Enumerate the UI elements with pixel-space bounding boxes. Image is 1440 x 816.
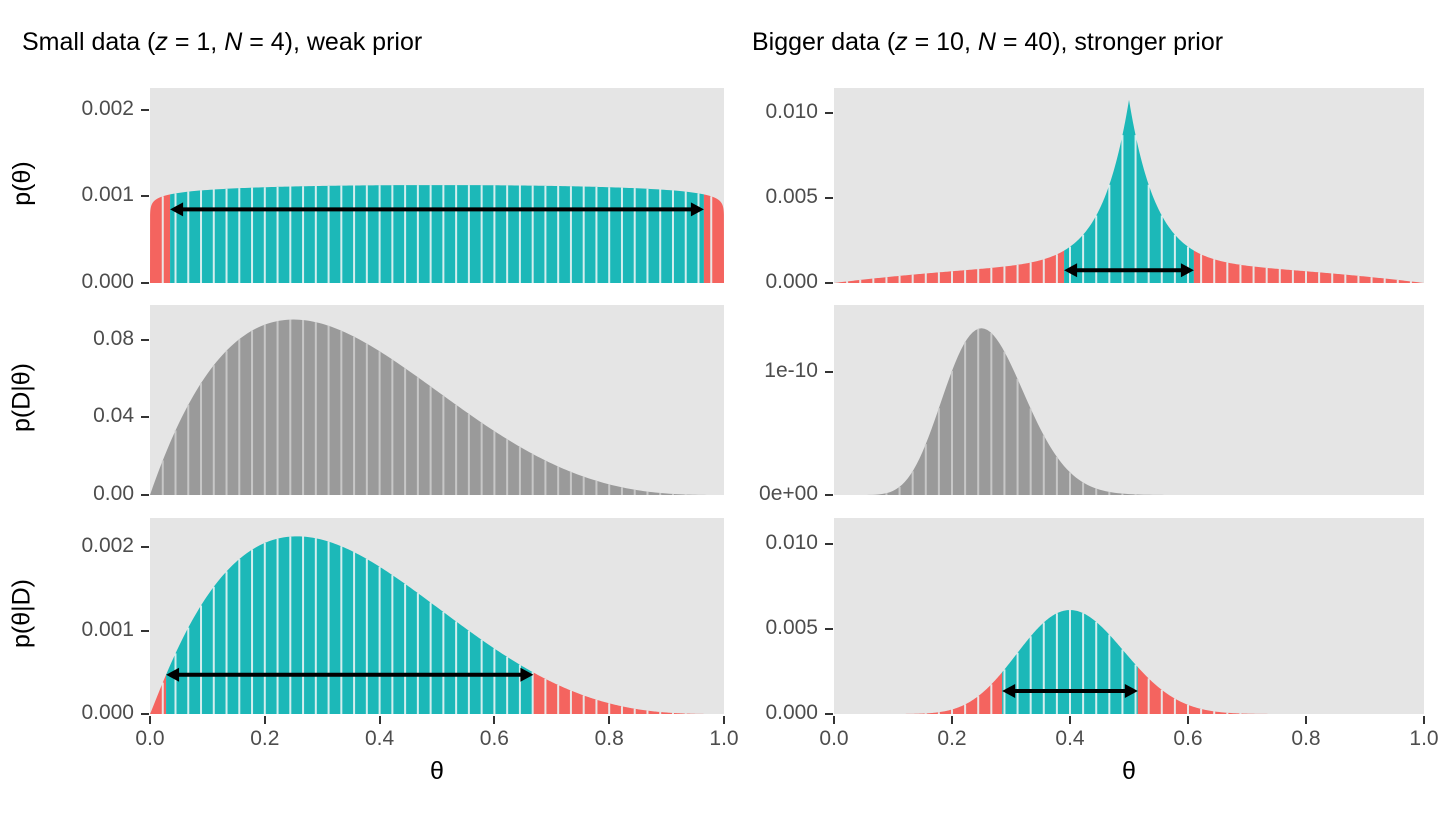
density-plot-prior-right [834, 88, 1424, 283]
y-tick-mark [825, 628, 833, 630]
density-plot-likelihood-right [834, 305, 1424, 495]
y-tick-mark [141, 339, 149, 341]
likelihood-area-likelihood-right [834, 328, 1424, 495]
x-axis-title-left: θ [150, 757, 724, 786]
column-title-left-part-3: N [224, 28, 242, 56]
x-tick-label: 0.8 [564, 727, 654, 751]
x-tick-label: 0.2 [220, 727, 310, 751]
density-plot-prior-left [150, 88, 724, 283]
y-tick-label: 0.000 [702, 270, 818, 294]
density-plot-posterior-left [150, 518, 724, 714]
y-tick-label: 0e+00 [702, 482, 818, 506]
x-tick-label: 0.6 [1143, 727, 1233, 751]
x-tick-mark [1069, 716, 1071, 724]
hdi-outside-right-posterior-left [533, 672, 724, 714]
y-tick-mark [825, 197, 833, 199]
hdi-outside-left-posterior-right [834, 672, 1002, 714]
y-tick-mark [141, 109, 149, 111]
y-tick-mark [825, 371, 833, 373]
column-title-right: Bigger data (z = 10, N = 40), stronger p… [752, 28, 1223, 57]
y-tick-mark [141, 630, 149, 632]
x-tick-mark [149, 716, 151, 724]
y-axis-title-likelihood: p(D|θ) [8, 303, 37, 493]
y-tick-mark [825, 494, 833, 496]
plot-panel-posterior-left [150, 518, 724, 714]
x-tick-mark [833, 716, 835, 724]
x-tick-mark [493, 716, 495, 724]
hdi-inside-prior-left [170, 185, 704, 283]
y-tick-label: 0.010 [702, 531, 818, 555]
bayes-grid-figure: Small data (z = 1, N = 4), weak priorBig… [0, 0, 1440, 816]
x-tick-mark [723, 716, 725, 724]
hdi-outside-left-prior-right [834, 251, 1064, 283]
density-plot-likelihood-left [150, 305, 724, 495]
y-tick-mark [141, 546, 149, 548]
y-tick-label: 0.005 [702, 185, 818, 209]
x-tick-label: 0.4 [1025, 727, 1115, 751]
hdi-inside-posterior-left [166, 536, 533, 714]
x-tick-label: 0.0 [789, 727, 879, 751]
hdi-outside-right-posterior-right [1138, 667, 1424, 714]
column-title-left: Small data (z = 1, N = 4), weak prior [22, 28, 422, 57]
column-title-right-part-1: z [895, 28, 908, 56]
y-tick-mark [825, 112, 833, 114]
x-tick-label: 1.0 [1379, 727, 1440, 751]
hdi-outside-left-prior-left [150, 194, 170, 283]
x-tick-mark [1305, 716, 1307, 724]
column-title-left-part-0: Small data ( [22, 28, 155, 56]
x-tick-label: 0.2 [907, 727, 997, 751]
column-title-left-part-4: = 4), weak prior [242, 28, 422, 56]
x-tick-mark [379, 716, 381, 724]
x-tick-mark [608, 716, 610, 724]
column-title-right-part-2: = 10, [908, 28, 978, 56]
y-tick-mark [141, 416, 149, 418]
x-tick-label: 1.0 [679, 727, 769, 751]
y-tick-mark [141, 195, 149, 197]
y-tick-mark [825, 543, 833, 545]
likelihood-area-likelihood-left [150, 320, 724, 495]
column-title-left-part-1: z [155, 28, 168, 56]
x-axis-title-right: θ [834, 757, 1424, 786]
x-tick-mark [1187, 716, 1189, 724]
x-tick-mark [951, 716, 953, 724]
x-tick-label: 0.6 [449, 727, 539, 751]
plot-panel-likelihood-left [150, 305, 724, 495]
column-title-right-part-4: = 40), stronger prior [996, 28, 1223, 56]
y-tick-label: 0.005 [702, 616, 818, 640]
y-tick-label: 0.000 [702, 701, 818, 725]
y-tick-mark [141, 494, 149, 496]
x-tick-mark [264, 716, 266, 724]
y-axis-title-posterior: p(θ|D) [8, 516, 37, 712]
y-tick-mark [141, 713, 149, 715]
plot-panel-prior-left [150, 88, 724, 283]
plot-panel-posterior-right [834, 518, 1424, 714]
y-tick-mark [825, 282, 833, 284]
y-axis-title-prior: p(θ) [8, 86, 37, 281]
x-tick-mark [1423, 716, 1425, 724]
hdi-outside-right-prior-right [1194, 251, 1424, 283]
column-title-left-part-2: = 1, [168, 28, 224, 56]
y-tick-mark [141, 282, 149, 284]
density-plot-posterior-right [834, 518, 1424, 714]
x-tick-label: 0.8 [1261, 727, 1351, 751]
x-tick-label: 0.0 [105, 727, 195, 751]
x-tick-label: 0.4 [335, 727, 425, 751]
plot-panel-prior-right [834, 88, 1424, 283]
column-title-right-part-0: Bigger data ( [752, 28, 895, 56]
y-tick-label: 0.010 [702, 100, 818, 124]
column-title-right-part-3: N [978, 28, 996, 56]
y-tick-label: 1e-10 [702, 359, 818, 383]
y-tick-mark [825, 713, 833, 715]
plot-panel-likelihood-right [834, 305, 1424, 495]
